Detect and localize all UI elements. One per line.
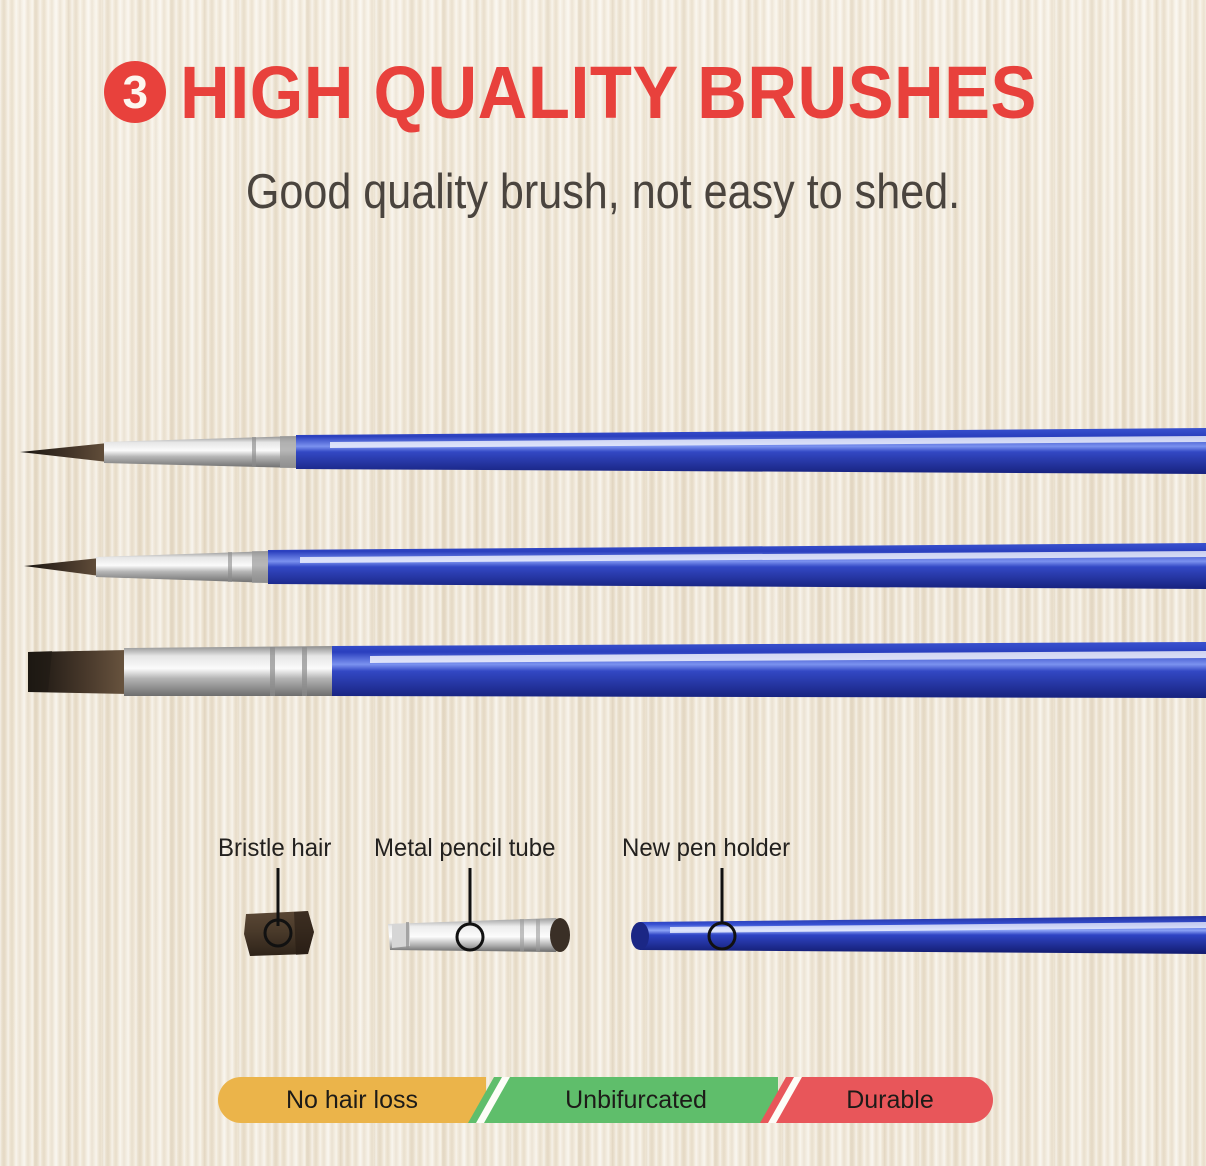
ferrule	[104, 436, 300, 468]
header: 3 HIGH QUALITY BRUSHES Good quality brus…	[0, 46, 1206, 220]
bristle-tip	[20, 443, 116, 462]
page-subtitle: Good quality brush, not easy to shed.	[72, 164, 1133, 220]
step-number-badge: 3	[104, 61, 166, 123]
handle	[268, 543, 1206, 589]
banner-label-durable: Durable	[846, 1086, 934, 1114]
title-row: 3 HIGH QUALITY BRUSHES	[0, 46, 1206, 138]
page-title: HIGH QUALITY BRUSHES	[180, 50, 1037, 135]
brush-fine-liner	[0, 528, 1206, 618]
product-infographic-poster: 3 HIGH QUALITY BRUSHES Good quality brus…	[0, 0, 1206, 1166]
callout-parts	[0, 826, 1206, 1006]
brush-flat-shader	[0, 622, 1206, 712]
ferrule	[96, 551, 272, 583]
callout-group: Bristle hair Metal pencil tube New pen h…	[0, 826, 1206, 1006]
banner-label-no-hair-loss: No hair loss	[286, 1086, 418, 1114]
bristle-tip	[24, 558, 108, 576]
brush-round-detail	[0, 412, 1206, 502]
handle	[332, 642, 1206, 698]
banner-label-unbifurcated: Unbifurcated	[565, 1086, 707, 1114]
handle	[296, 428, 1206, 474]
feature-banner: No hair loss Unbifurcated Durable	[218, 1077, 993, 1123]
